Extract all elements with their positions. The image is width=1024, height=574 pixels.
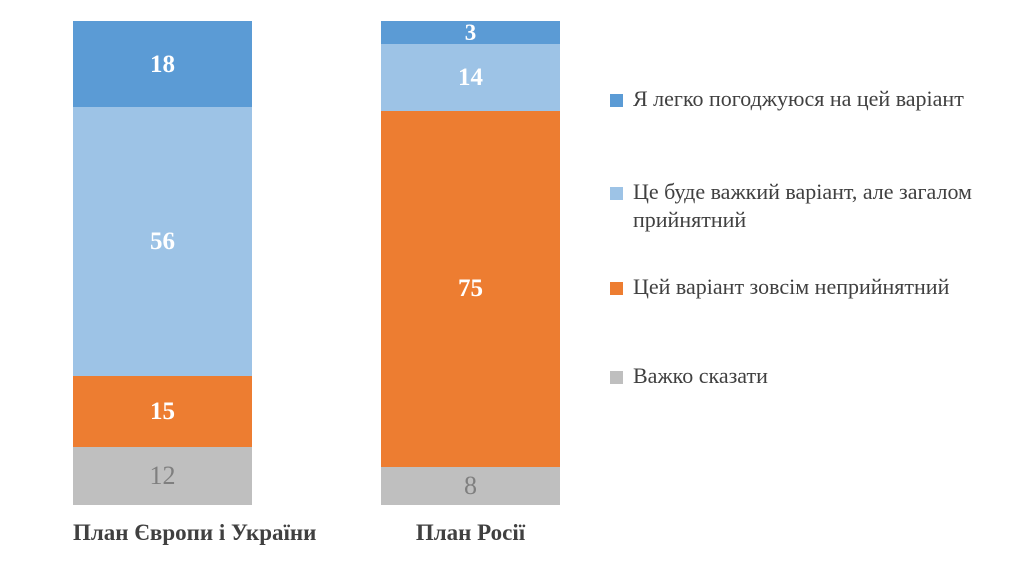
bar-group-plan-rosii: 3 14 75 8 <box>381 21 560 505</box>
segment-value-label: 3 <box>465 21 477 44</box>
category-label-1: План Росії <box>381 520 560 546</box>
category-label-0: План Європи і України <box>73 520 252 546</box>
legend-item-label: Важко сказати <box>633 362 768 390</box>
stacked-bar-chart: 18 56 15 12 3 14 <box>0 0 1024 574</box>
bar-segment[interactable]: 75 <box>381 111 560 467</box>
bar-segment[interactable]: 12 <box>73 447 252 505</box>
bar-stack: 18 56 15 12 <box>73 21 252 505</box>
legend-item[interactable]: Важко сказати <box>610 362 768 390</box>
legend-item-label: Цей варіант зовсім неприйнятний <box>633 273 949 301</box>
plot-area: 18 56 15 12 3 14 <box>0 0 600 574</box>
bar-segment[interactable]: 56 <box>73 107 252 375</box>
bar-group-plan-evropy-i-ukrainy: 18 56 15 12 <box>73 21 252 505</box>
legend-item-label: Я легко погоджуюся на цей варіант <box>633 85 964 113</box>
segment-value-label: 12 <box>150 463 176 489</box>
segment-value-label: 14 <box>458 65 483 90</box>
legend-swatch-icon <box>610 282 623 295</box>
legend-swatch-icon <box>610 187 623 200</box>
segment-value-label: 15 <box>150 399 175 424</box>
legend-swatch-icon <box>610 371 623 384</box>
segment-value-label: 18 <box>150 52 175 77</box>
segment-value-label: 8 <box>464 473 477 499</box>
segment-value-label: 56 <box>150 229 175 254</box>
legend-item[interactable]: Це буде важкий варіант, але загалом прий… <box>610 178 1008 234</box>
bar-segment[interactable]: 18 <box>73 21 252 107</box>
bar-segment[interactable]: 8 <box>381 467 560 505</box>
legend-swatch-icon <box>610 94 623 107</box>
legend-item[interactable]: Цей варіант зовсім неприйнятний <box>610 273 949 301</box>
segment-value-label: 75 <box>458 276 483 301</box>
legend-item-label: Це буде важкий варіант, але загалом прий… <box>633 178 1008 234</box>
legend-item[interactable]: Я легко погоджуюся на цей варіант <box>610 85 964 113</box>
bar-stack: 3 14 75 8 <box>381 21 560 505</box>
bar-segment[interactable]: 14 <box>381 44 560 111</box>
bar-segment[interactable]: 15 <box>73 376 252 448</box>
bar-segment[interactable]: 3 <box>381 21 560 44</box>
